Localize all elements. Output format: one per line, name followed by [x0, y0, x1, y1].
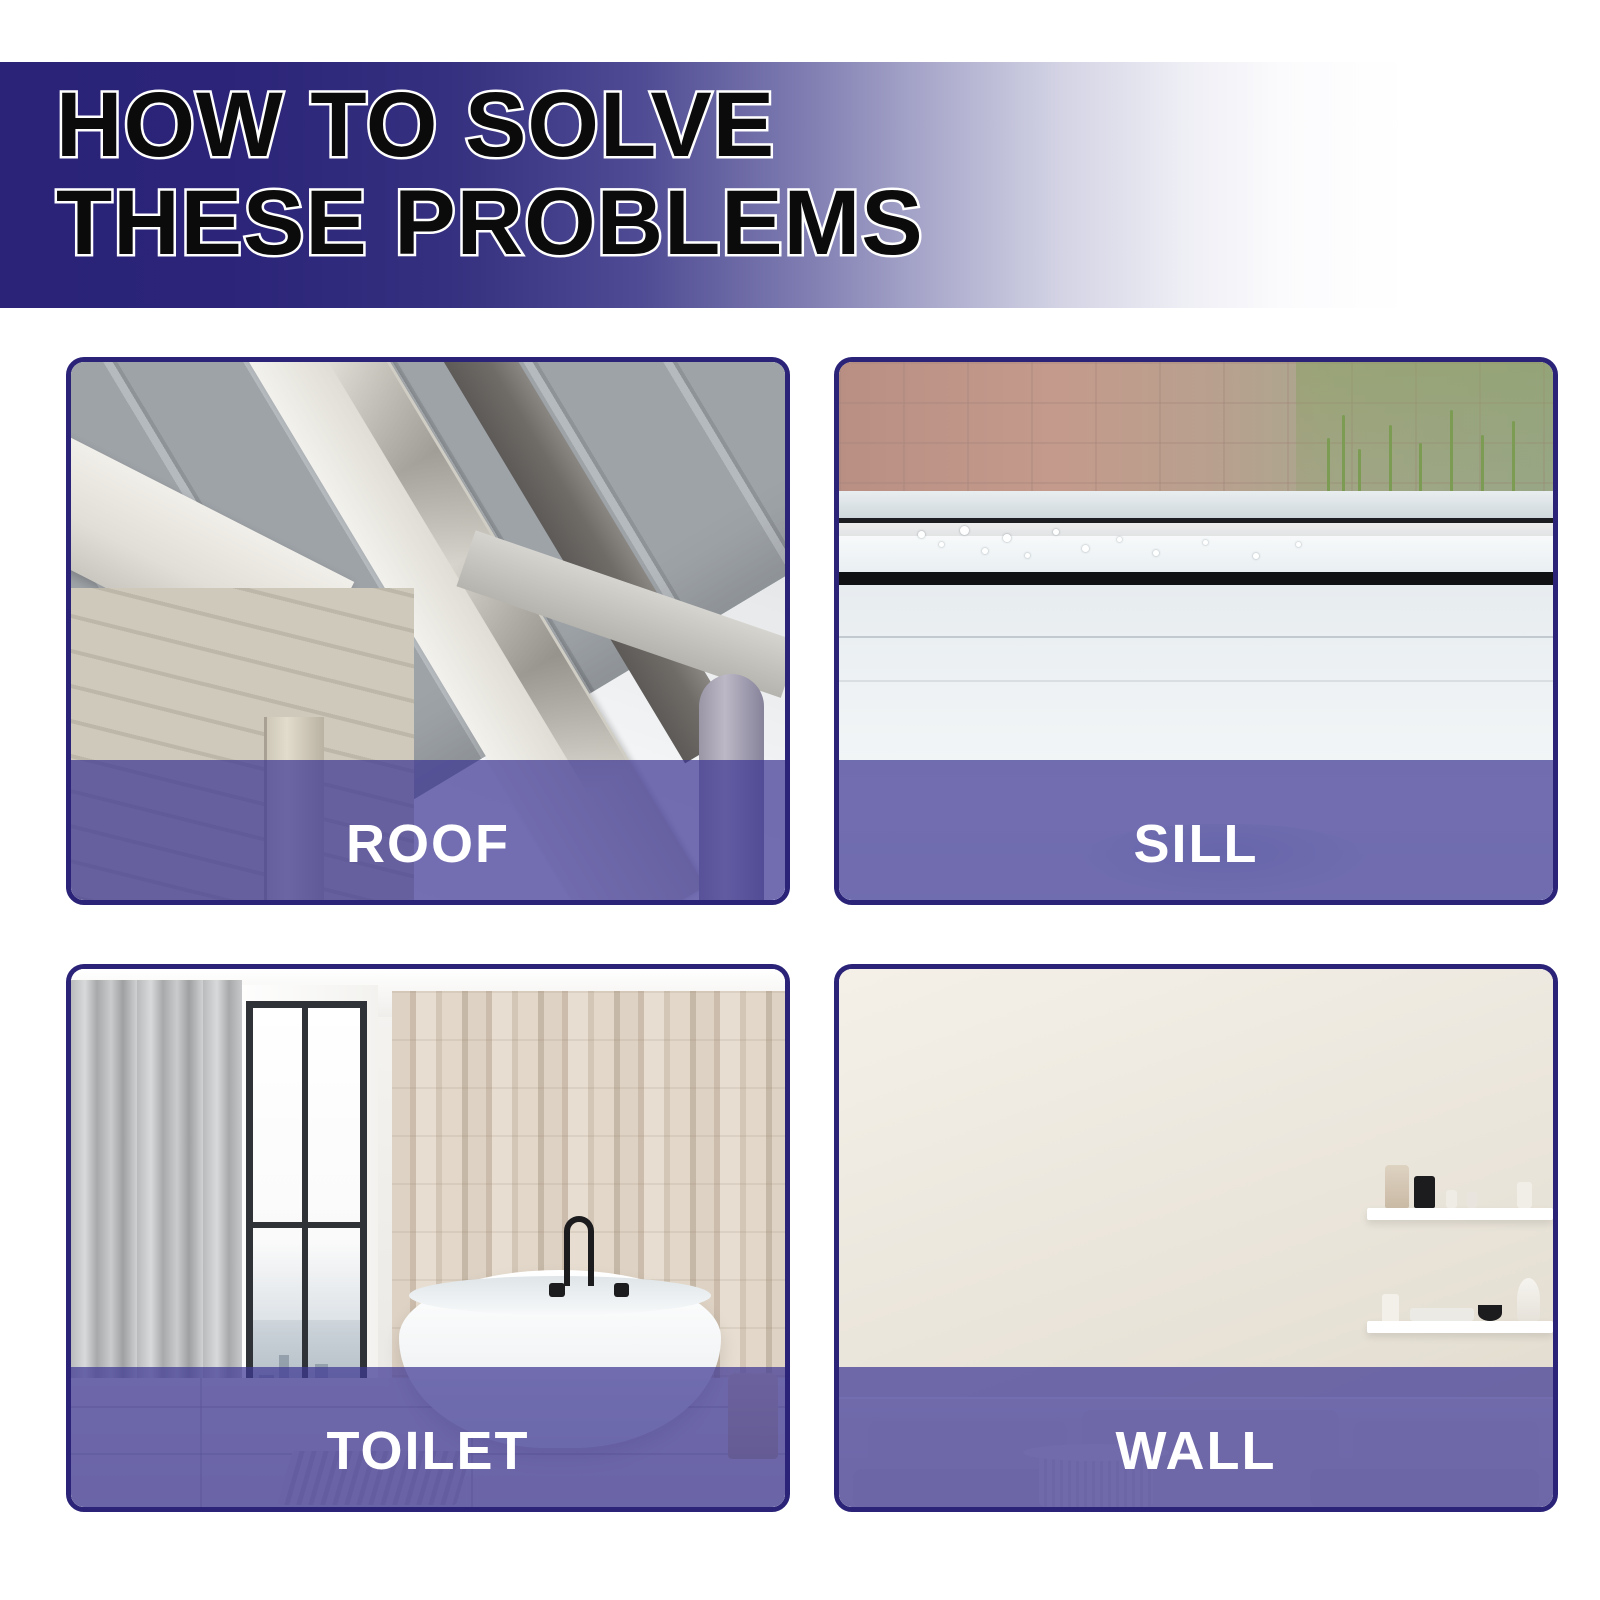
shelf-object-small-a	[1446, 1190, 1457, 1209]
shelf-object-small-b	[1467, 1192, 1477, 1208]
wall-label-band: WALL	[839, 1367, 1553, 1507]
window-frame-top	[839, 491, 1553, 518]
wet-frame-surface	[839, 523, 1553, 571]
shelf-object-small-d	[1382, 1294, 1399, 1321]
window-frame-shadow	[839, 572, 1553, 586]
toilet-label-band: TOILET	[71, 1367, 785, 1507]
shelf-bottle-black	[1414, 1176, 1435, 1208]
shelf-tray	[1410, 1308, 1474, 1321]
floating-shelf-lower	[1367, 1321, 1553, 1333]
card-label-wall: WALL	[1116, 1424, 1277, 1478]
card-toilet[interactable]: TOILET	[66, 964, 790, 1512]
floating-shelf-upper	[1367, 1208, 1553, 1220]
card-label-sill: SILL	[1134, 817, 1259, 871]
faucet	[564, 1216, 594, 1286]
card-label-toilet: TOILET	[326, 1424, 529, 1478]
sill-label-band: SILL	[839, 760, 1553, 900]
card-wall[interactable]: WALL	[834, 964, 1558, 1512]
shelf-object-small-c	[1517, 1182, 1531, 1209]
shelf-vase-beige	[1385, 1165, 1409, 1208]
card-sill[interactable]: SILL	[834, 357, 1558, 905]
card-roof[interactable]: ROOF	[66, 357, 790, 905]
page-title: HOW TO SOLVE THESE PROBLEMS	[56, 76, 1456, 272]
tap-left	[549, 1283, 565, 1297]
poster-root: HOW TO SOLVE THESE PROBLEMS ROOF	[0, 0, 1600, 1600]
painted-wall-surface	[839, 969, 1553, 1399]
card-label-roof: ROOF	[346, 817, 510, 871]
header-banner: HOW TO SOLVE THESE PROBLEMS	[0, 62, 1600, 308]
shelf-sculpture-white	[1517, 1278, 1540, 1321]
problem-card-grid: ROOF	[66, 357, 1558, 1512]
grass-patch	[1296, 362, 1553, 502]
tap-right	[614, 1283, 630, 1297]
roof-label-band: ROOF	[71, 760, 785, 900]
